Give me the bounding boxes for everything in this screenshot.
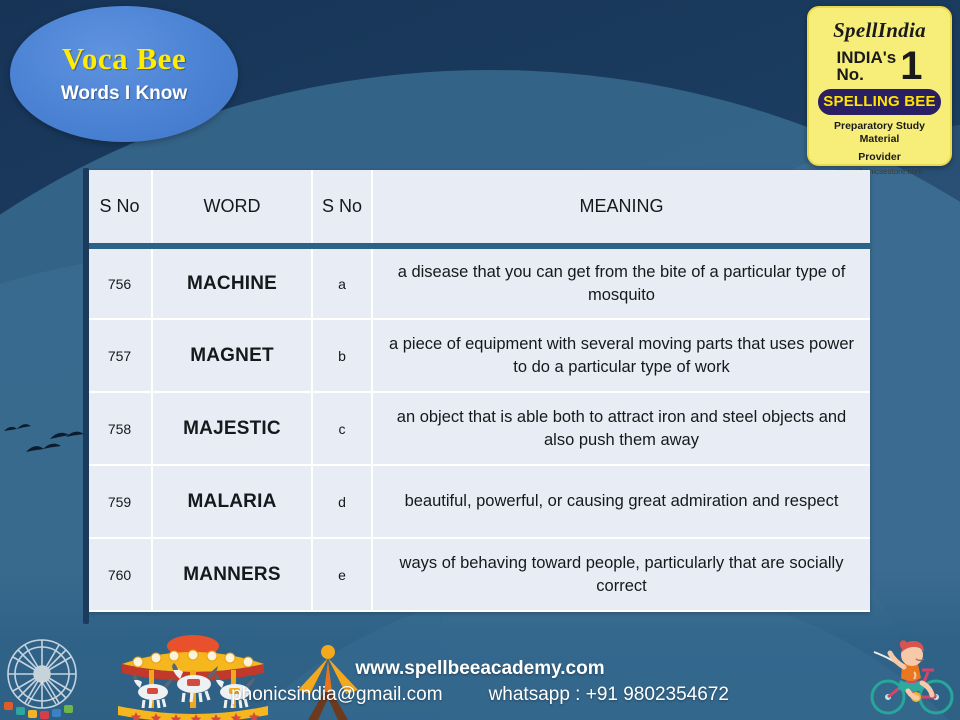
cell-word: MAJESTIC: [152, 392, 312, 465]
cell-sno: 759: [88, 465, 152, 538]
table-row: 757 MAGNET b a piece of equipment with s…: [88, 319, 870, 392]
cell-meaning: beautiful, powerful, or causing great ad…: [372, 465, 870, 538]
cell-letter: d: [312, 465, 372, 538]
table-row: 760 MANNERS e ways of behaving toward pe…: [88, 538, 870, 611]
cell-sno: 760: [88, 538, 152, 611]
brand-logo: Voca Bee Words I Know: [10, 6, 238, 142]
footer-email[interactable]: phonicsindia@gmail.com: [231, 684, 443, 706]
slide-canvas: Voca Bee Words I Know SpellIndia INDIA's…: [0, 0, 960, 720]
cell-sno: 756: [88, 246, 152, 319]
vocabulary-table-container: S No WORD S No MEANING 756 MACHINE a a d…: [88, 170, 870, 612]
cell-meaning: a piece of equipment with several moving…: [372, 319, 870, 392]
cell-meaning: ways of behaving toward people, particul…: [372, 538, 870, 611]
spellindia-badge: SpellIndia INDIA's No. 1 SPELLING BEE Pr…: [807, 6, 952, 166]
cell-sno: 757: [88, 319, 152, 392]
cell-meaning: a disease that you can get from the bite…: [372, 246, 870, 319]
brand-subtitle: Words I Know: [61, 83, 187, 105]
column-header-sno-1: S No: [88, 170, 152, 246]
table-left-edge-accent: [83, 168, 89, 624]
vocabulary-table: S No WORD S No MEANING 756 MACHINE a a d…: [88, 170, 870, 612]
badge-rank-number: 1: [900, 48, 922, 84]
cell-meaning: an object that is able both to attract i…: [372, 392, 870, 465]
badge-no-text: No.: [836, 66, 896, 83]
table-row: 759 MALARIA d beautiful, powerful, or ca…: [88, 465, 870, 538]
badge-provider-line2: Provider: [814, 151, 945, 164]
cell-letter: b: [312, 319, 372, 392]
badge-rank-label: INDIA's No.: [836, 49, 896, 84]
cell-word: MALARIA: [152, 465, 312, 538]
cell-letter: e: [312, 538, 372, 611]
footer-website[interactable]: www.spellbeeacademy.com: [0, 658, 960, 680]
footer-whatsapp[interactable]: whatsapp : +91 9802354672: [489, 684, 729, 706]
badge-spelling-bee-banner: SPELLING BEE: [818, 89, 941, 115]
column-header-word: WORD: [152, 170, 312, 246]
badge-indias-text: INDIA's: [836, 49, 896, 66]
table-header-row: S No WORD S No MEANING: [88, 170, 870, 246]
cell-letter: a: [312, 246, 372, 319]
badge-provider-line1: Preparatory Study Material: [814, 120, 945, 146]
cell-word: MAGNET: [152, 319, 312, 392]
cell-word: MANNERS: [152, 538, 312, 611]
footer-contact-row: phonicsindia@gmail.com whatsapp : +91 98…: [0, 684, 960, 706]
footer-contact-block: www.spellbeeacademy.com phonicsindia@gma…: [0, 658, 960, 706]
cell-sno: 758: [88, 392, 152, 465]
badge-rank-group: INDIA's No. 1: [814, 48, 945, 84]
badge-brand-name: SpellIndia: [814, 18, 945, 43]
table-row: 756 MACHINE a a disease that you can get…: [88, 246, 870, 319]
column-header-sno-2: S No: [312, 170, 372, 246]
cell-letter: c: [312, 392, 372, 465]
cell-word: MACHINE: [152, 246, 312, 319]
brand-title: Voca Bee: [62, 43, 186, 76]
column-header-meaning: MEANING: [372, 170, 870, 246]
table-row: 758 MAJESTIC c an object that is able bo…: [88, 392, 870, 465]
